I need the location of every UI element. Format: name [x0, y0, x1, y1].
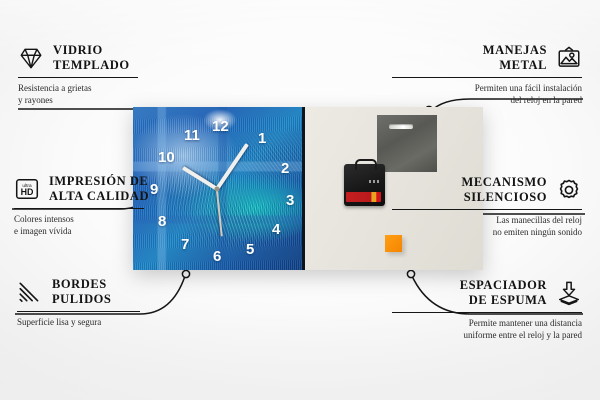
clock-numeral-11: 11 — [184, 128, 200, 143]
wire-dot-espaciador — [407, 270, 414, 277]
diagonal-lines-icon — [17, 279, 43, 305]
infographic-canvas: 12 1 2 3 4 5 6 7 8 9 10 11 — [0, 0, 600, 400]
metal-hanger-plate — [377, 115, 437, 172]
callout-divider — [14, 208, 144, 209]
callout-header: MANEJAS METAL — [392, 43, 582, 73]
callout-header: MECANISMO SILENCIOSO — [392, 175, 582, 205]
clock-numeral-2: 2 — [281, 161, 289, 176]
clock-numeral-5: 5 — [246, 242, 254, 257]
callout-title: VIDRIO TEMPLADO — [53, 43, 130, 73]
clock-center-hub — [215, 186, 220, 191]
callout-manejas-metal: MANEJAS METAL Permiten una fácil instala… — [392, 43, 582, 106]
mechanism-detail — [369, 180, 381, 183]
callout-header: ultra HD IMPRESIÓN DE ALTA CALIDAD — [14, 174, 204, 204]
callout-bordes-pulidos: BORDES PULIDOS Superficie lisa y segura — [17, 277, 207, 328]
diamond-icon — [18, 45, 44, 71]
clock-second-hand — [217, 188, 224, 236]
callout-divider — [18, 77, 138, 78]
callout-header: BORDES PULIDOS — [17, 277, 207, 307]
clock-numeral-4: 4 — [272, 222, 280, 237]
mechanism-handle — [355, 159, 377, 170]
callout-subtitle: Permiten una fácil instalación del reloj… — [392, 82, 582, 106]
callout-impresion-alta-calidad: ultra HD IMPRESIÓN DE ALTA CALIDAD Color… — [14, 174, 204, 237]
callout-subtitle: Permite mantener una distancia uniforme … — [392, 317, 582, 341]
callout-divider — [392, 77, 582, 78]
clock-numeral-10: 10 — [158, 150, 175, 165]
callout-header: ESPACIADOR DE ESPUMA — [392, 278, 582, 308]
clock-numeral-7: 7 — [181, 237, 189, 252]
callout-divider — [392, 209, 582, 210]
callout-title: IMPRESIÓN DE ALTA CALIDAD — [49, 174, 149, 204]
callout-mecanismo-silencioso: MECANISMO SILENCIOSO Las manecillas del … — [392, 175, 582, 238]
callout-vidrio-templado: VIDRIO TEMPLADO Resistencia a grietas y … — [18, 43, 208, 106]
callout-divider — [392, 312, 582, 313]
callout-title: MECANISMO SILENCIOSO — [461, 175, 547, 205]
callout-espaciador-de-espuma: ESPACIADOR DE ESPUMA Permite mantener un… — [392, 278, 582, 341]
callout-subtitle: Las manecillas del reloj no emiten ningú… — [392, 214, 582, 238]
callout-header: VIDRIO TEMPLADO — [18, 43, 208, 73]
ultra-hd-icon: ultra HD — [14, 176, 40, 202]
arrow-down-layers-icon — [556, 280, 582, 306]
svg-text:HD: HD — [21, 187, 34, 197]
callout-subtitle: Resistencia a grietas y rayones — [18, 82, 208, 106]
clock-minute-hand — [216, 143, 250, 190]
callout-title: MANEJAS METAL — [483, 43, 547, 73]
gear-icon — [556, 177, 582, 203]
clock-numeral-3: 3 — [286, 193, 294, 208]
callout-subtitle: Superficie lisa y segura — [17, 316, 207, 328]
mechanism-label — [346, 192, 381, 202]
callout-title: ESPACIADOR DE ESPUMA — [460, 278, 547, 308]
clock-mechanism-box — [344, 164, 385, 206]
callout-divider — [17, 311, 140, 312]
clock-numeral-6: 6 — [213, 249, 221, 264]
clock-numeral-12: 12 — [212, 119, 229, 134]
callout-subtitle: Colores intensos e imagen vívida — [14, 213, 204, 237]
picture-frame-hanger-icon — [556, 45, 582, 71]
callout-title: BORDES PULIDOS — [52, 277, 111, 307]
hanger-slot — [389, 124, 413, 129]
clock-numeral-1: 1 — [258, 131, 266, 146]
